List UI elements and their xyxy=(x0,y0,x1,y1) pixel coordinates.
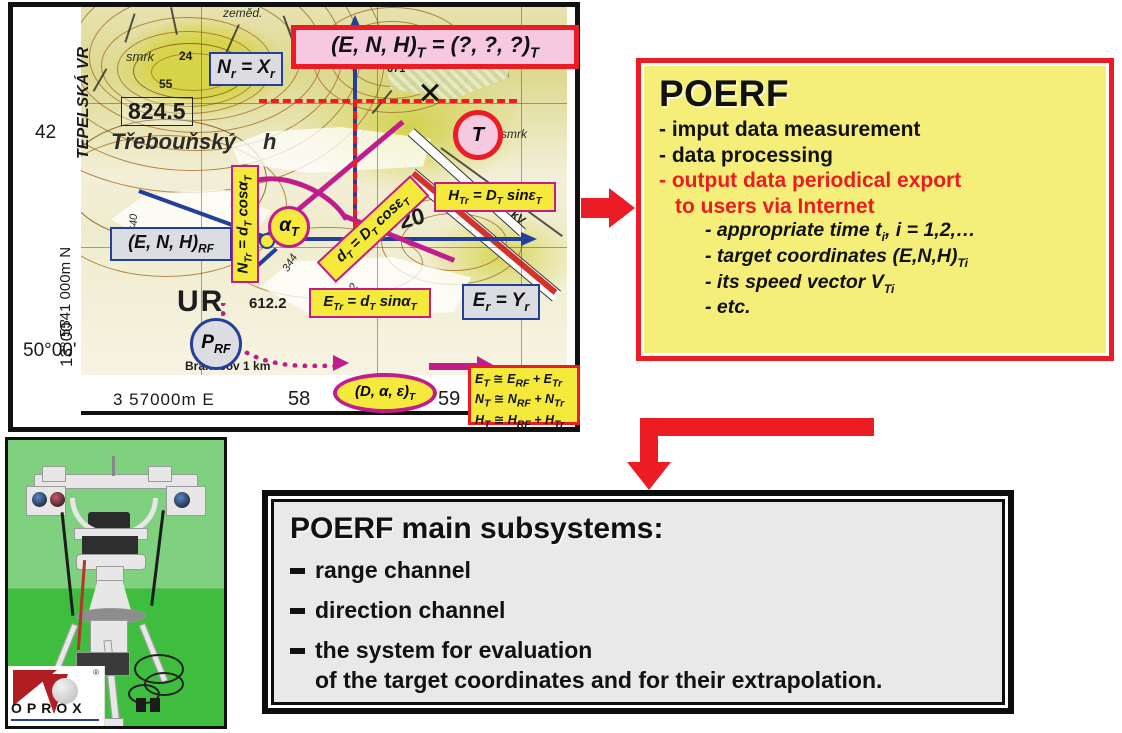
bullet-dash-icon xyxy=(290,648,305,654)
oprox-registered-mark: ® xyxy=(93,668,99,677)
map-lon-label: 13°00' xyxy=(57,319,77,367)
vector-er-arrowhead xyxy=(521,232,537,246)
poerf-item: - output data periodical export xyxy=(659,168,1101,194)
device-left-lens-2 xyxy=(50,492,65,507)
device-motor xyxy=(82,536,138,556)
callout-ntr: NTr = dT cosαT xyxy=(231,165,259,283)
map-grid-42: 42 xyxy=(35,122,56,144)
map-panel: zeměd. smrk 24 55 824.5 Třebouňský h UR … xyxy=(8,2,580,432)
oprox-underline xyxy=(11,719,99,722)
callout-sum-box: ET ≅ ERF + ETr NT ≅ NRF + NTr HT ≅ HRF +… xyxy=(468,365,580,425)
cable-black-1 xyxy=(61,512,75,616)
map-label-ur: UR xyxy=(177,285,224,319)
bullet-dash-icon xyxy=(290,608,305,614)
map-label-trebounsky: Třebouňský xyxy=(111,129,236,155)
callout-enh-rf: (E, N, H)RF xyxy=(110,227,232,261)
poerf-title: POERF xyxy=(659,73,1101,115)
callout-target-circle: T xyxy=(453,110,503,160)
device-box-left xyxy=(42,466,66,482)
map-region-label: TEPELSKÁ VR xyxy=(75,47,93,159)
map-label-smrk-2: smrk xyxy=(501,127,527,141)
dashed-red-vertical xyxy=(353,99,357,241)
poerf-subitem: - appropriate time ti, i = 1,2,… xyxy=(659,219,1101,245)
callout-d-alpha-eps: (D, α, ε)T xyxy=(333,373,437,413)
callout-target-unknown: (E, N, H)T = (?, ?, ?)T xyxy=(291,25,579,69)
map-label-55: 55 xyxy=(159,77,172,91)
cable-black-2 xyxy=(150,510,165,606)
map-label-zemed: zeměd. xyxy=(223,7,262,20)
sum-row: HT ≅ HRF + HTr xyxy=(475,412,573,432)
callout-etr: ETr = dT sinαT xyxy=(309,288,431,318)
callout-er-yr: Er = Yr xyxy=(462,284,540,320)
callout-prf-circle: PRF xyxy=(190,318,242,370)
map-label-24: 24 xyxy=(179,49,192,63)
poerf-item: - data processing xyxy=(659,143,1101,169)
cable-plug-2 xyxy=(150,698,160,712)
subsystem-item: direction channel xyxy=(290,596,998,626)
device-left-lens xyxy=(32,492,47,507)
dashed-red-horizontal xyxy=(259,99,517,103)
subsystems-title: POERF main subsystems: xyxy=(290,512,998,546)
map-east-tick-59: 59 xyxy=(438,388,460,411)
poerf-box: POERF - imput data measurement - data pr… xyxy=(636,58,1114,361)
bullet-dash-icon xyxy=(290,568,305,574)
map-label-h: h xyxy=(263,129,276,155)
map-inner: zeměd. smrk 24 55 824.5 Třebouňský h UR … xyxy=(13,7,575,427)
map-east-tick-58: 58 xyxy=(288,388,310,411)
poerf-item: - imput data measurement xyxy=(659,117,1101,143)
device-photo: ® OPROX xyxy=(5,437,227,729)
callout-alpha-t: αT xyxy=(268,206,310,248)
cable-red-1 xyxy=(77,560,86,650)
subsystems-box: POERF main subsystems: range channel dir… xyxy=(262,490,1014,714)
map-grid-east: 3 57000m E xyxy=(113,390,215,410)
oprox-logo: ® OPROX xyxy=(8,666,105,726)
map-label-8245: 824.5 xyxy=(121,97,193,126)
poerf-item: to users via Internet xyxy=(659,194,1101,220)
callout-htr: HTr = DT sinεT xyxy=(434,182,556,212)
device-box-right xyxy=(148,466,172,482)
callout-nr-xr: Nr = Xr xyxy=(209,52,283,86)
poerf-subitem: - target coordinates (E,N,H)Ti xyxy=(659,245,1101,271)
subsystem-item: the system for evaluation of the target … xyxy=(290,636,998,696)
poerf-subitem: - its speed vector VTi xyxy=(659,271,1101,297)
sum-row: ET ≅ ERF + ETr xyxy=(475,371,573,391)
map-label-smrk-1: smrk xyxy=(126,49,154,64)
device-right-lens xyxy=(174,492,190,508)
oprox-wordmark: OPROX xyxy=(11,700,87,716)
poerf-subitem: - etc. xyxy=(659,296,1101,320)
cable-plug-1 xyxy=(136,698,146,712)
sum-row: NT ≅ NRF + NTr xyxy=(475,391,573,411)
device-antenna xyxy=(112,456,115,476)
callout-target-unknown-text: (E, N, H)T = (?, ?, ?)T xyxy=(331,34,539,61)
dotted-magenta-arrowhead xyxy=(333,355,349,371)
subsystem-item: range channel xyxy=(290,556,998,586)
